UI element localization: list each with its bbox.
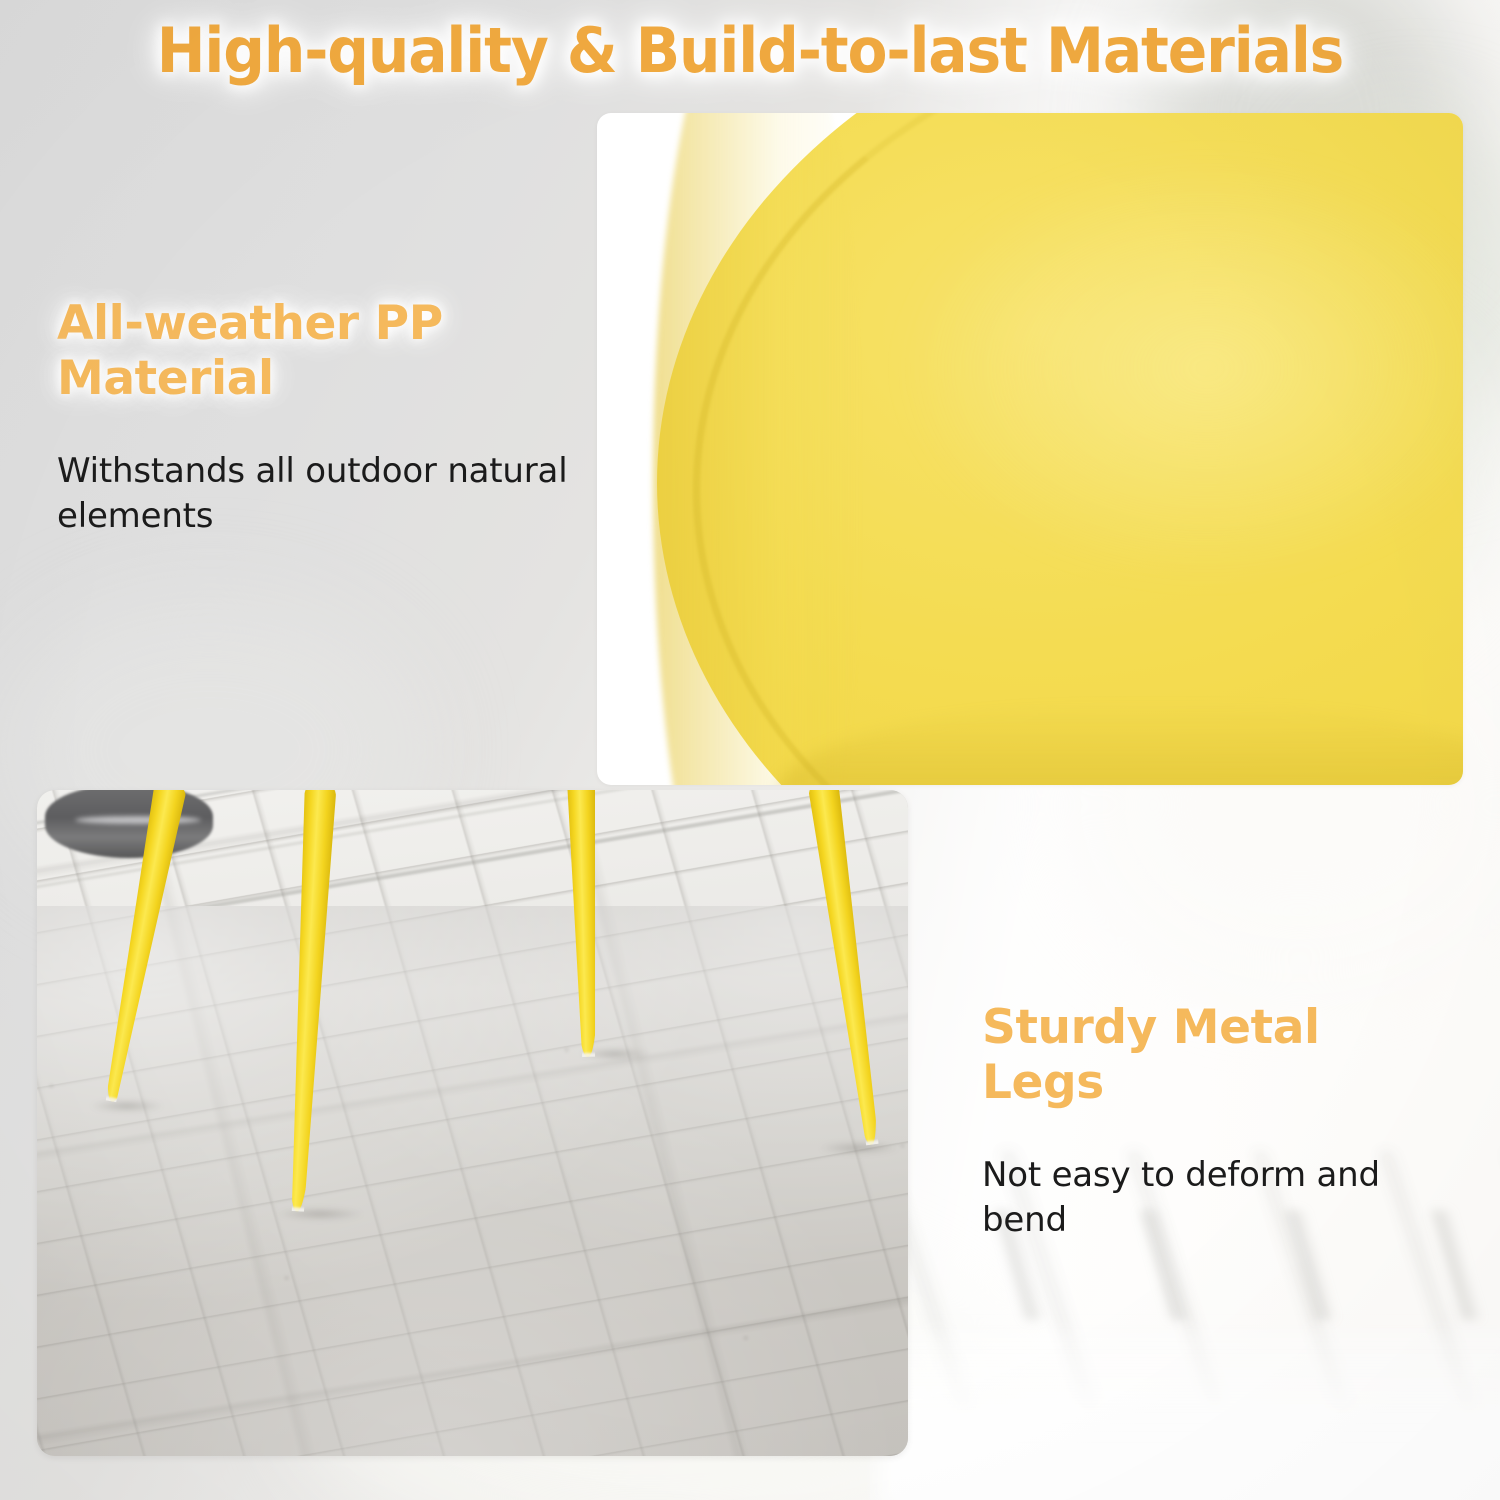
feature-title: All-weather PP Material [57, 296, 577, 407]
floor-lighting [37, 906, 908, 1456]
leg-contact-shadow [819, 1142, 899, 1154]
chair-seat-highlight [897, 153, 1463, 583]
feature-title: Sturdy Metal Legs [982, 1000, 1452, 1111]
feature-subtitle: Not easy to deform and bend [982, 1153, 1452, 1243]
feature-all-weather-pp-material: All-weather PP Material Withstands all o… [57, 296, 577, 539]
seat-closeup-panel [597, 113, 1463, 785]
legs-photo-panel [37, 790, 908, 1456]
leg-contact-shadow [277, 1208, 363, 1220]
feature-banner: High-quality & Build-to-last Materials [0, 0, 1500, 1500]
feature-subtitle: Withstands all outdoor natural elements [57, 449, 577, 539]
planter-highlight [75, 816, 201, 824]
feature-sturdy-metal-legs: Sturdy Metal Legs Not easy to deform and… [982, 1000, 1452, 1243]
background-bottom-wash [880, 1330, 1500, 1500]
leg-contact-shadow [91, 1100, 163, 1112]
planter-base [45, 790, 213, 858]
tile-floor [37, 906, 908, 1456]
page-title: High-quality & Build-to-last Materials [45, 14, 1455, 87]
